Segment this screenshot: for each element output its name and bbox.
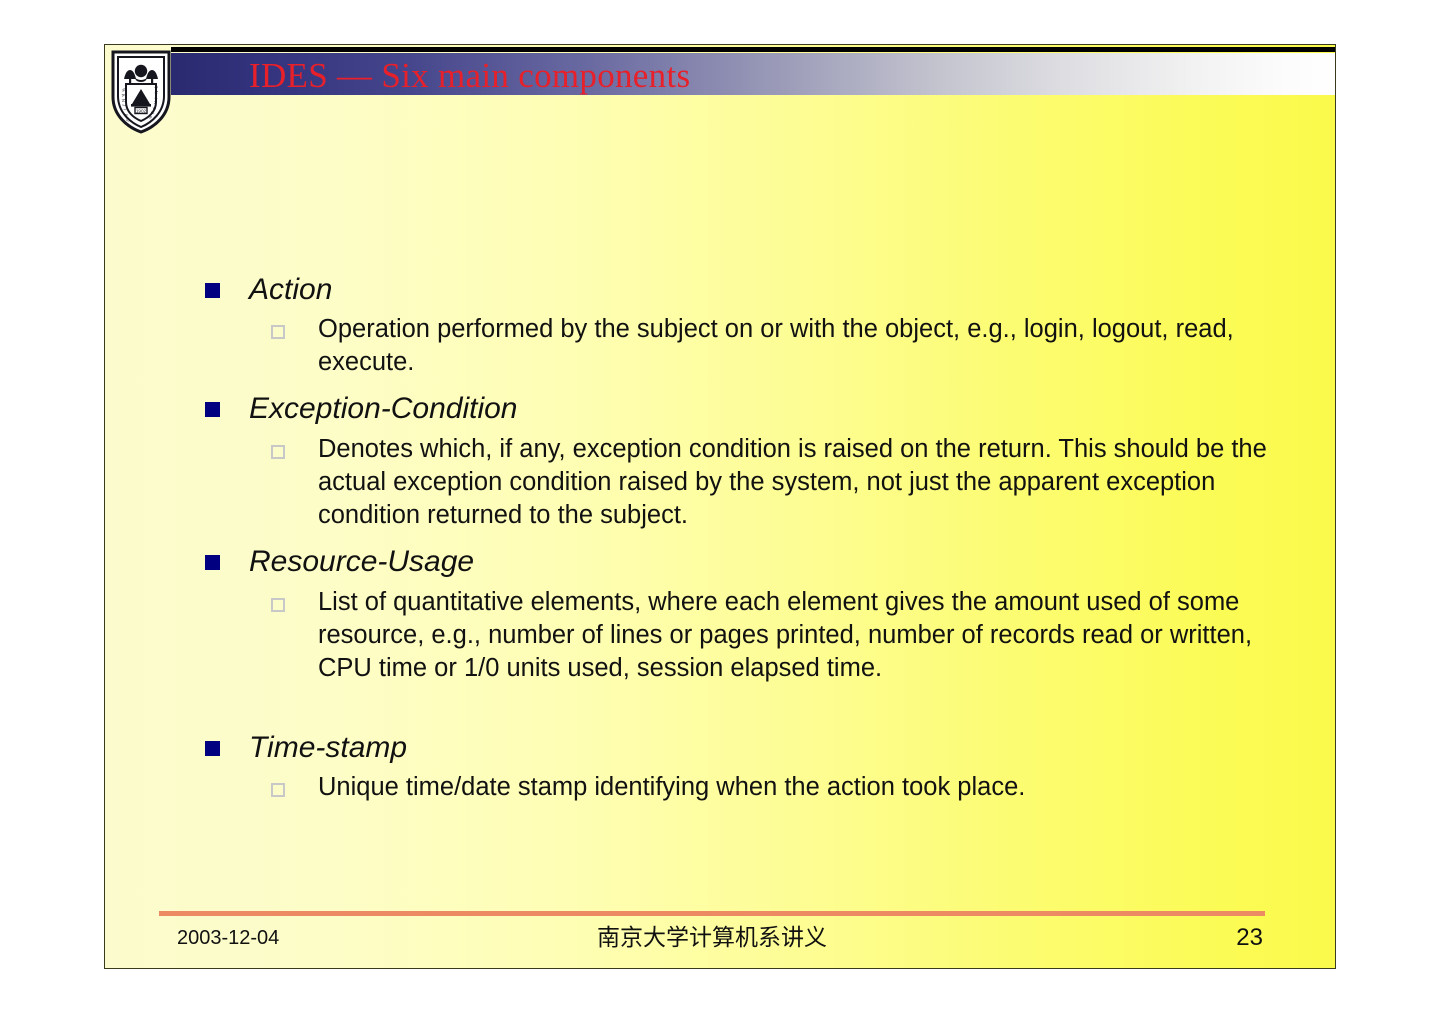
bullet-level2-resource-usage-1: List of quantitative elements, where eac… — [271, 586, 1271, 685]
presentation-slide: IDES — Six main components 1902 — [104, 44, 1336, 969]
bullet-level2-label: Operation performed by the subject on or… — [318, 313, 1271, 379]
bullet-level2-label: Unique time/date stamp identifying when … — [318, 771, 1025, 804]
bullet-level1-resource-usage: Resource-Usage — [205, 543, 474, 580]
bullet-marker-square-filled — [205, 402, 220, 417]
bullet-level1-time-stamp: Time-stamp — [205, 729, 407, 766]
footer-page-number: 23 — [159, 925, 1265, 951]
bullet-level2-action-1: Operation performed by the subject on or… — [271, 313, 1271, 379]
bullet-marker-square-hollow — [271, 783, 285, 797]
bullet-marker-square-hollow — [271, 325, 285, 339]
bullet-level1-label: Action — [249, 271, 332, 308]
bullet-level2-label: List of quantitative elements, where eac… — [318, 586, 1271, 685]
bullet-level1-label: Exception-Condition — [249, 390, 518, 427]
bullet-level2-label: Denotes which, if any, exception conditi… — [318, 433, 1271, 532]
bullet-marker-square-hollow — [271, 445, 285, 459]
bullet-marker-square-hollow — [271, 598, 285, 612]
footer-divider-rule — [159, 911, 1265, 916]
bullet-level2-time-stamp-1: Unique time/date stamp identifying when … — [271, 771, 1271, 804]
slide-body: Action Operation performed by the subjec… — [105, 45, 1335, 968]
bullet-level1-label: Time-stamp — [249, 729, 407, 766]
bullet-marker-square-filled — [205, 555, 220, 570]
bullet-level1-label: Resource-Usage — [249, 543, 474, 580]
bullet-marker-square-filled — [205, 741, 220, 756]
bullet-level1-exception-condition: Exception-Condition — [205, 390, 518, 427]
bullet-marker-square-filled — [205, 283, 220, 298]
bullet-level2-exception-condition-1: Denotes which, if any, exception conditi… — [271, 433, 1271, 532]
bullet-level1-action: Action — [205, 271, 332, 308]
